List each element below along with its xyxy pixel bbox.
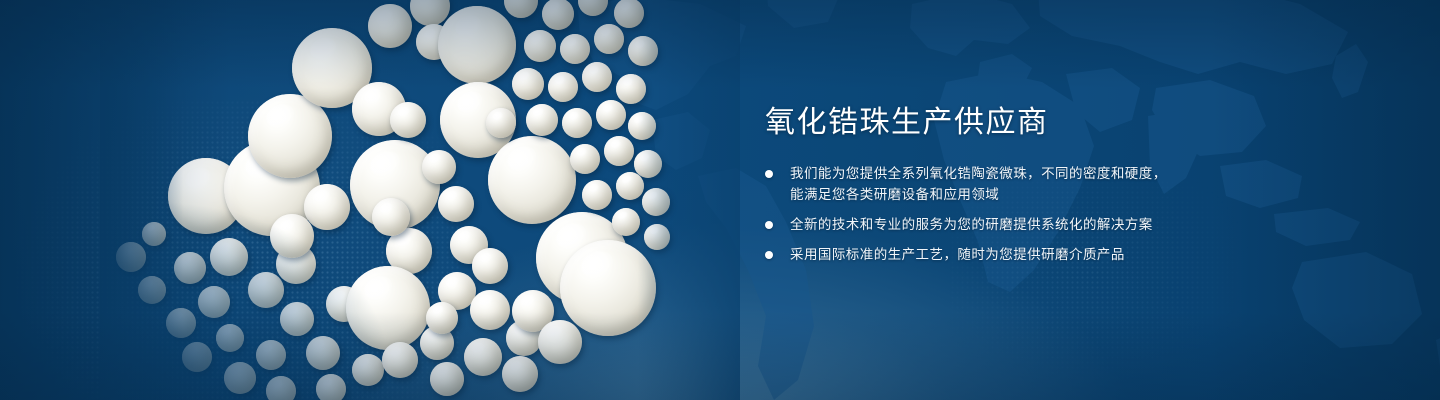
list-item-line-1: 我们能为您提供全系列氧化锆陶瓷微珠，不同的密度和硬度， — [790, 166, 1167, 181]
list-item: 采用国际标准的生产工艺，随时为您提供研磨介质产品 — [765, 244, 1325, 265]
hero-banner: 氧化锆珠生产供应商 我们能为您提供全系列氧化锆陶瓷微珠，不同的密度和硬度， 能满… — [0, 0, 1440, 400]
list-item: 我们能为您提供全系列氧化锆陶瓷微珠，不同的密度和硬度， 能满足您各类研磨设备和应… — [765, 163, 1325, 205]
bullet-dot-icon — [765, 170, 773, 178]
bullet-dot-icon — [765, 251, 773, 259]
bullet-dot-icon — [765, 221, 773, 229]
page-title: 氧化锆珠生产供应商 — [765, 106, 1325, 139]
list-item-line-2: 能满足您各类研磨设备和应用领域 — [790, 184, 1325, 205]
list-item: 全新的技术和专业的服务为您的研磨提供系统化的解决方案 — [765, 214, 1325, 235]
list-item-line-1: 全新的技术和专业的服务为您的研磨提供系统化的解决方案 — [790, 217, 1153, 232]
list-item-line-1: 采用国际标准的生产工艺，随时为您提供研磨介质产品 — [790, 247, 1125, 262]
selling-points-list: 我们能为您提供全系列氧化锆陶瓷微珠，不同的密度和硬度， 能满足您各类研磨设备和应… — [765, 163, 1325, 265]
banner-copy: 氧化锆珠生产供应商 我们能为您提供全系列氧化锆陶瓷微珠，不同的密度和硬度， 能满… — [765, 106, 1325, 265]
